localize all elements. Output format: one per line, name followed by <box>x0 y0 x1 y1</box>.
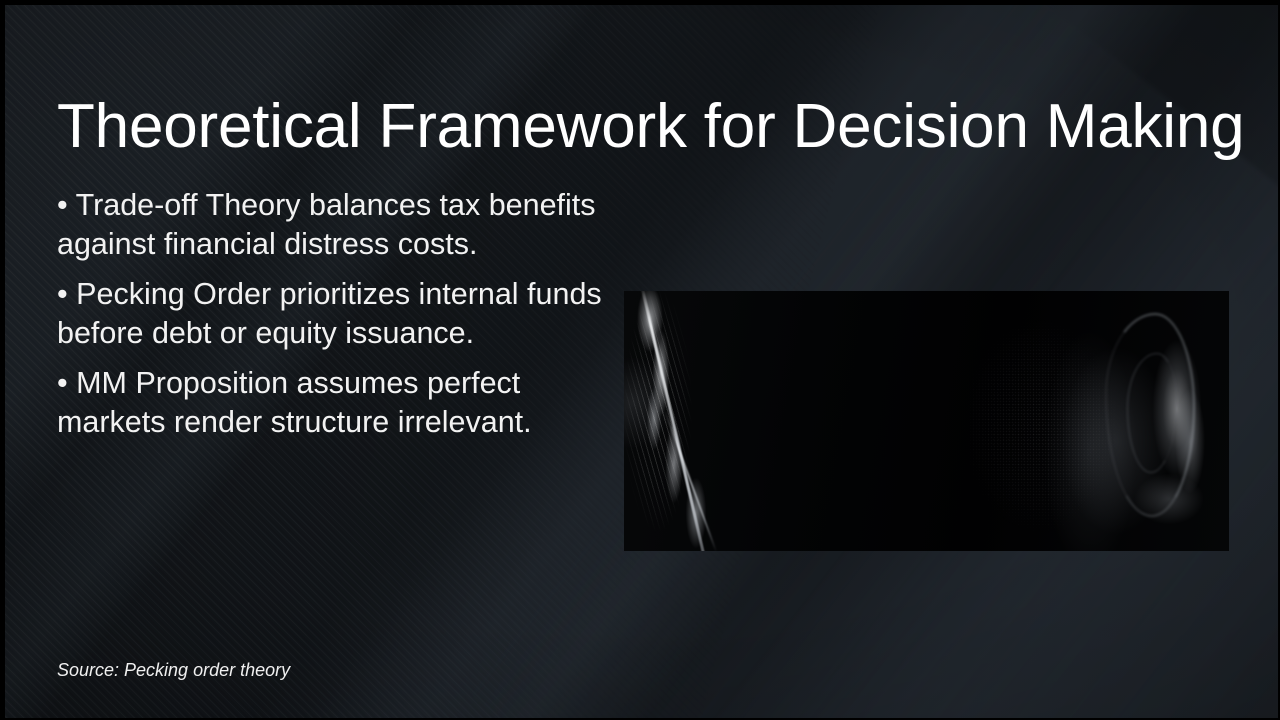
slide-canvas: Theoretical Framework for Decision Makin… <box>0 0 1280 720</box>
bullet-item-2: • Pecking Order prioritizes internal fun… <box>57 275 609 353</box>
slide-photo <box>624 291 1229 551</box>
source-caption: Source: Pecking order theory <box>57 658 290 682</box>
bullet-list: • Trade-off Theory balances tax benefits… <box>57 186 609 442</box>
bullet-item-3: • MM Proposition assumes perfect markets… <box>57 364 609 442</box>
bullet-item-1: • Trade-off Theory balances tax benefits… <box>57 186 609 264</box>
slide-title: Theoretical Framework for Decision Makin… <box>57 94 1227 161</box>
